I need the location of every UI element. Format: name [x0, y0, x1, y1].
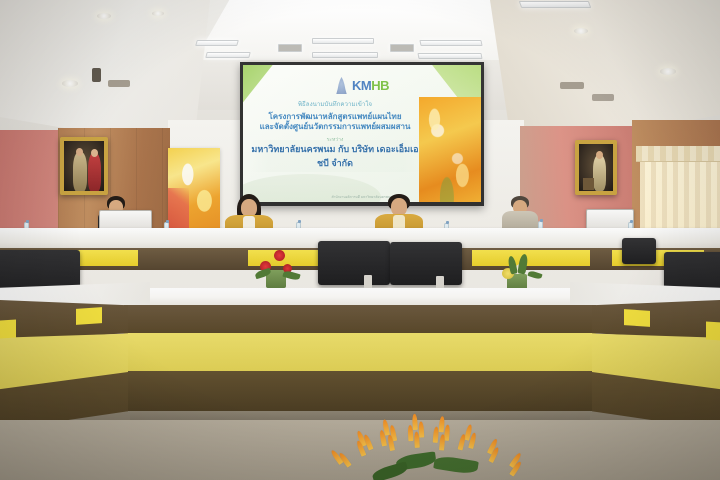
slide-footer: สำนักงานอธิการบดี มหาวิทยาลัยนครพนม [249, 195, 475, 200]
table-yellow-tab [0, 319, 16, 338]
fluorescent-panel [205, 52, 250, 58]
projected-slide: KMHB พิธีลงนามบันทึกความเข้าใจ โครงการพั… [243, 65, 481, 202]
rose-bloom [274, 250, 285, 261]
projection-screen: KMHB พิธีลงนามบันทึกความเข้าใจ โครงการพั… [240, 62, 484, 206]
table-panel-yellow [124, 333, 596, 371]
table-yellow-tab [624, 309, 650, 327]
table-yellow-tab [706, 321, 720, 340]
slide-line-3: และจัดตั้งศูนย์นวัตกรรมการแพทย์ผสมผสาน [249, 122, 421, 132]
fluorescent-panel [417, 53, 482, 59]
fluorescent-panel [519, 1, 592, 8]
ceiling-vent [390, 44, 414, 52]
leaf [517, 253, 528, 274]
fluorescent-panel [312, 52, 378, 58]
university-emblem-icon [335, 77, 348, 94]
portrait-canvas-left [64, 141, 104, 191]
monitor-right-far [622, 238, 656, 264]
ceiling-speaker [92, 68, 101, 82]
foreground-bouquet [316, 418, 560, 480]
leaf [527, 270, 542, 280]
rollup-banner [168, 148, 220, 236]
ceiling-speaker [108, 80, 130, 87]
slide-parties: มหาวิทยาลัยนครพนม กับ บริษัท เดอะเอ็มเอช… [251, 140, 419, 172]
downlight [97, 13, 111, 19]
bouquet-leaf [371, 461, 409, 480]
portrait-figure [593, 155, 606, 191]
monitor-center-left [318, 241, 390, 285]
curtain-valance [636, 146, 720, 162]
ceiling-vent [278, 44, 302, 52]
monitor-center-right [390, 242, 462, 285]
royal-portrait-left [60, 137, 108, 195]
table-yellow-tab [76, 307, 102, 325]
fluorescent-panel [312, 38, 374, 44]
downlight [152, 11, 164, 16]
conference-room-photo: KMHB พิธีลงนามบันทึกความเข้าใจ โครงการพั… [0, 0, 720, 480]
portrait-head [596, 151, 603, 159]
fluorescent-panel [419, 40, 482, 46]
flower-arrangement-yellow [495, 250, 541, 292]
portrait-figure [73, 152, 87, 191]
slide-logo-text: KMHB [352, 78, 389, 93]
slide-flower-photo [419, 97, 481, 202]
ceiling-speaker [592, 94, 614, 101]
table-panel-brown-upper [124, 305, 596, 333]
slide-logo: KMHB [243, 77, 481, 94]
portrait-head [76, 148, 83, 156]
royal-portrait-right [575, 140, 617, 195]
slide-line-1: พิธีลงนามบันทึกความเข้าใจ [249, 101, 421, 109]
slide-line-2: โครงการพัฒนาหลักสูตรแพทย์แผนไทย [249, 112, 421, 122]
downlight [574, 28, 588, 34]
table-panel-brown-lower [124, 371, 596, 411]
downlight [62, 80, 78, 87]
bouquet-leaf [433, 455, 479, 476]
flower-arrangement-red [255, 248, 301, 292]
ceiling-speaker [560, 82, 584, 89]
portrait-head [91, 149, 98, 157]
table-panel-brown-upper-left [0, 300, 128, 340]
portrait-canvas-right [579, 144, 613, 191]
portrait-figure [88, 153, 101, 191]
table-panel-brown-upper-right [592, 300, 720, 340]
portrait-table [583, 178, 594, 190]
downlight [660, 68, 676, 75]
fluorescent-panel [195, 40, 239, 46]
